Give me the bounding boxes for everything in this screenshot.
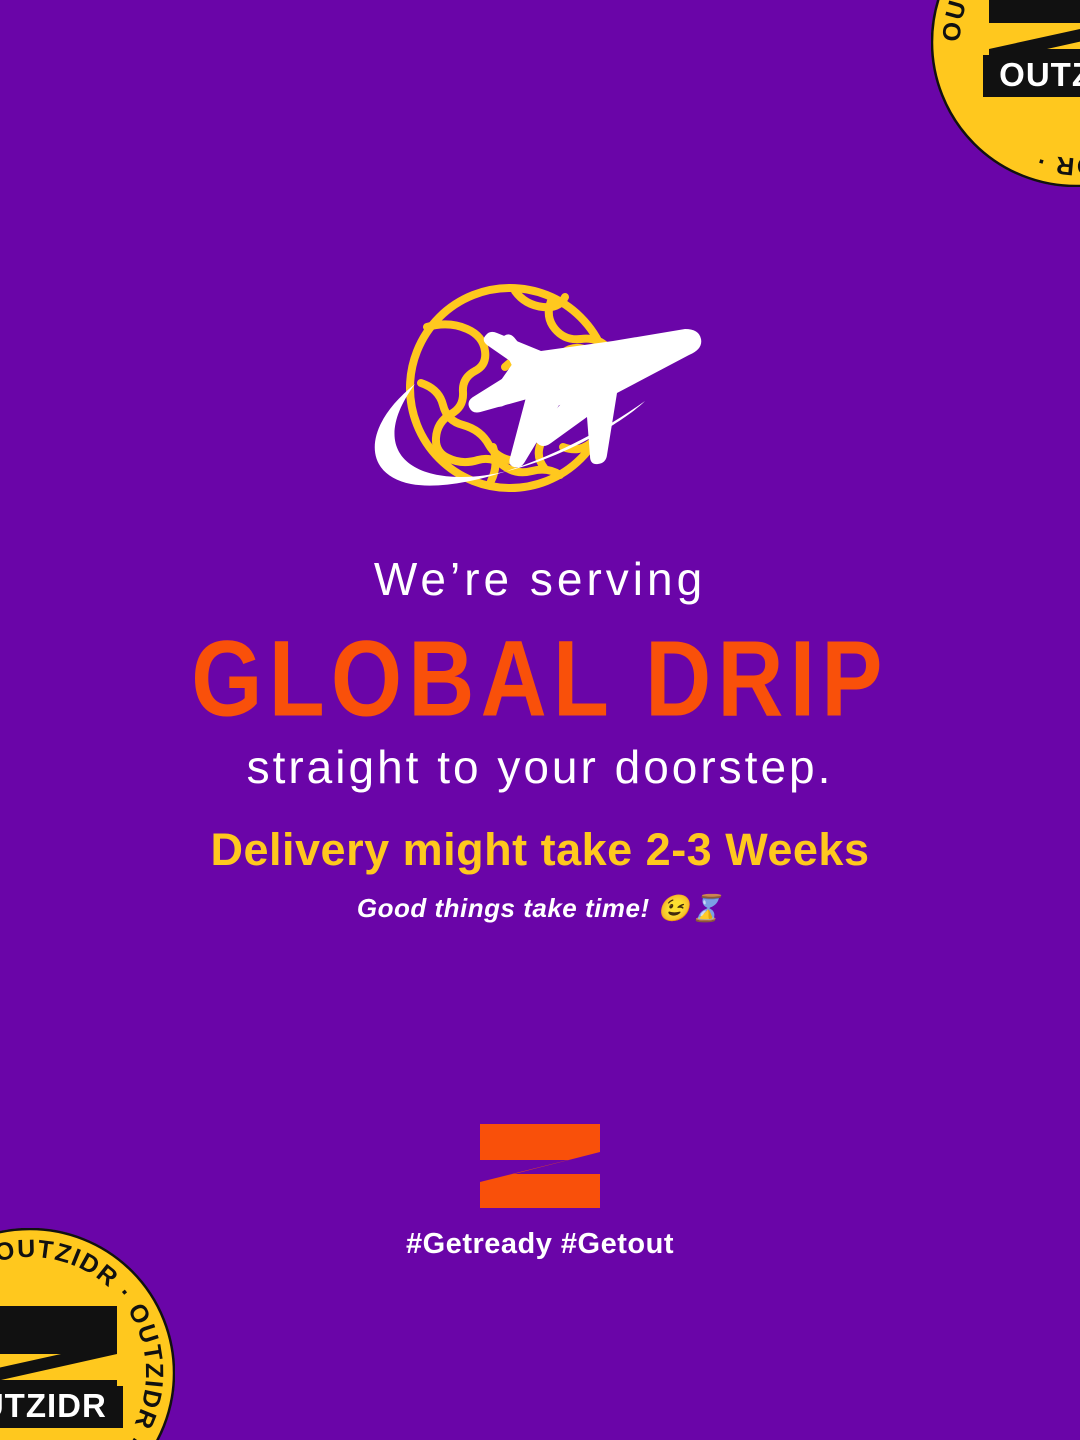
- delivery-headline: Delivery might take 2-3 Weeks: [0, 822, 1080, 878]
- headline-line-top: We’re serving: [0, 548, 1080, 610]
- badge-center-text: OUTZIDR: [999, 56, 1080, 93]
- globe-airplane-icon: [355, 275, 715, 510]
- badge-center-text: OUTZIDR: [0, 1387, 107, 1424]
- delivery-notice-group: Delivery might take 2-3 Weeks Good thing…: [0, 822, 1080, 928]
- poster-canvas: OUTZIDR · OUTZIDR · OUTZIDR · OUTZIDR · …: [0, 0, 1080, 1440]
- delivery-subtext: Good things take time! 😉⌛: [0, 888, 1080, 928]
- page-title: GLOBAL DRIP: [0, 618, 1080, 740]
- headline-line-bottom: straight to your doorstep.: [0, 736, 1080, 798]
- outzidr-z-logo: [478, 1122, 602, 1210]
- outzidr-badge-top-right: OUTZIDR · OUTZIDR · OUTZIDR · OUTZIDR · …: [931, 0, 1080, 187]
- headline-group: We’re serving GLOBAL DRIP straight to yo…: [0, 548, 1080, 798]
- outzidr-badge-bottom-left: OUTZIDR · OUTZIDR · OUTZIDR · OUTZIDR · …: [0, 1228, 175, 1440]
